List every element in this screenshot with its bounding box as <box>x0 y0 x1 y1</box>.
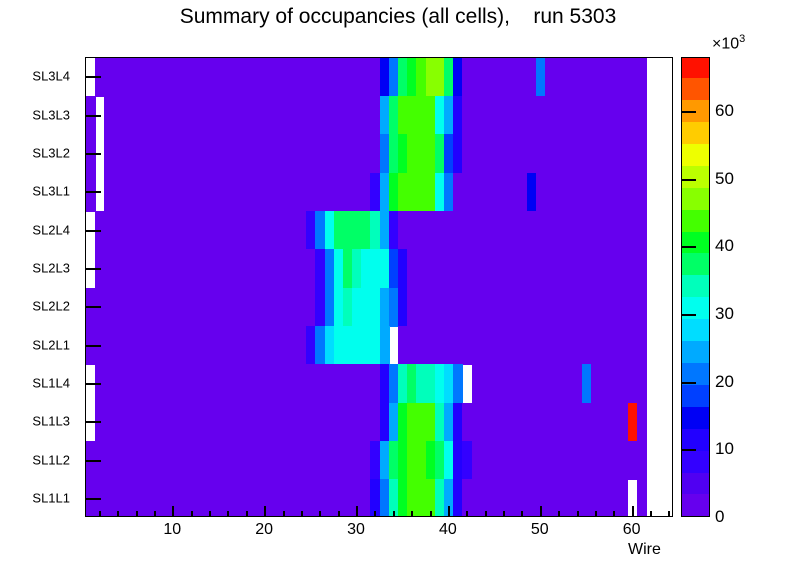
y-axis-tick-label: SL3L1 <box>32 184 70 199</box>
x-axis-minor-tick <box>301 511 303 517</box>
x-axis-title: Wire <box>628 541 661 559</box>
x-axis-minor-tick <box>319 511 321 517</box>
heatmap-cell <box>637 403 647 442</box>
x-axis-minor-tick <box>503 511 505 517</box>
x-axis-minor-tick <box>430 511 432 517</box>
x-axis-major-tick <box>448 506 450 517</box>
x-axis-minor-tick <box>136 511 138 517</box>
heatmap-cell-grid <box>86 58 672 516</box>
heatmap-cell <box>453 364 463 403</box>
heatmap-cell <box>619 479 629 517</box>
x-axis-minor-tick <box>466 511 468 517</box>
colorbar-tick-mark <box>681 382 696 384</box>
colorbar-tick-label: 50 <box>715 169 734 189</box>
heatmap-cell <box>637 441 647 480</box>
x-axis-tick-label: 20 <box>255 521 273 539</box>
heatmap-cell <box>380 326 390 365</box>
x-axis-minor-tick <box>595 511 597 517</box>
y-axis-tick-mark <box>85 345 101 347</box>
x-axis-tick-label: 30 <box>347 521 365 539</box>
colorbar-tick-label: 10 <box>715 439 734 459</box>
heatmap-cell <box>637 364 647 403</box>
heatmap-cell <box>637 134 647 173</box>
y-axis-tick-mark <box>85 306 101 308</box>
x-axis-minor-tick <box>154 511 156 517</box>
x-axis-major-tick <box>172 506 174 517</box>
colorbar-tick-mark <box>681 179 696 181</box>
y-axis-tick-mark <box>85 460 101 462</box>
x-axis-minor-tick <box>338 511 340 517</box>
y-axis-tick-label: SL3L4 <box>32 69 70 84</box>
page-title: Summary of occupancies (all cells), run … <box>0 5 796 29</box>
colorbar-tick-label: 30 <box>715 304 734 324</box>
x-axis-minor-tick <box>485 511 487 517</box>
y-axis-tick-mark <box>85 383 101 385</box>
x-axis-major-tick <box>264 506 266 517</box>
root-canvas: Summary of occupancies (all cells), run … <box>0 0 796 572</box>
colorbar-tick-mark <box>681 111 696 113</box>
x-axis-minor-tick <box>521 511 523 517</box>
y-axis-tick-label: SL1L2 <box>32 452 70 467</box>
y-axis-tick-label: SL1L1 <box>32 490 70 505</box>
y-axis-labels: SL3L4SL3L3SL3L2SL3L1SL2L4SL2L3SL2L2SL2L1… <box>0 57 80 517</box>
y-axis-tick-mark <box>85 268 101 270</box>
y-axis-tick-mark <box>85 191 101 193</box>
x-axis-tick-label: 60 <box>623 521 641 539</box>
x-axis-tick-label: 50 <box>531 521 549 539</box>
colorbar-tick-mark <box>681 246 696 248</box>
x-axis-minor-tick <box>283 511 285 517</box>
x-axis-minor-tick <box>613 511 615 517</box>
heatmap-cell <box>637 326 647 365</box>
x-axis-major-tick <box>632 506 634 517</box>
y-axis-tick-mark <box>85 498 101 500</box>
y-axis-tick-mark <box>85 115 101 117</box>
colorbar-exponent-power: 3 <box>739 33 745 45</box>
y-axis-tick-label: SL2L2 <box>32 299 70 314</box>
x-axis-major-tick <box>540 506 542 517</box>
x-axis-minor-tick <box>227 511 229 517</box>
y-axis-tick-label: SL3L3 <box>32 107 70 122</box>
x-axis-minor-tick <box>117 511 119 517</box>
x-axis-minor-tick <box>558 511 560 517</box>
y-axis-tick-mark <box>85 421 101 423</box>
colorbar-tick-label: 20 <box>715 372 734 392</box>
colorbar-tick-label: 40 <box>715 236 734 256</box>
colorbar-tick-label: 0 <box>715 507 724 527</box>
heatmap-cell <box>637 288 647 327</box>
y-axis-tick-label: SL1L3 <box>32 414 70 429</box>
colorbar-tick-label: 60 <box>715 101 734 121</box>
heatmap-cell <box>637 96 647 135</box>
y-axis-tick-label: SL3L2 <box>32 145 70 160</box>
x-axis-tick-label: 40 <box>439 521 457 539</box>
heatmap-cell <box>637 58 647 97</box>
heatmap-cell <box>637 479 647 517</box>
y-axis-tick-label: SL2L3 <box>32 260 70 275</box>
y-axis-tick-mark <box>85 76 101 78</box>
colorbar-ticks: 0102030405060 <box>681 57 796 517</box>
heatmap-cell <box>637 211 647 250</box>
x-axis-minor-tick <box>209 511 211 517</box>
x-axis-minor-tick <box>99 511 101 517</box>
x-axis-minor-tick <box>374 511 376 517</box>
y-axis-tick-label: SL1L4 <box>32 375 70 390</box>
y-axis-tick-mark <box>85 153 101 155</box>
x-axis-minor-tick <box>668 511 670 517</box>
x-axis-minor-tick <box>191 511 193 517</box>
y-axis-tick-label: SL2L4 <box>32 222 70 237</box>
x-axis-minor-tick <box>246 511 248 517</box>
x-axis-minor-tick <box>411 511 413 517</box>
heatmap-cell <box>637 173 647 212</box>
colorbar-tick-mark <box>681 314 696 316</box>
heatmap-plot-area[interactable] <box>85 57 673 517</box>
x-axis-minor-tick <box>393 511 395 517</box>
heatmap-cell <box>637 249 647 288</box>
colorbar-exponent: ×103 <box>712 33 745 53</box>
x-axis-minor-tick <box>650 511 652 517</box>
colorbar-tick-mark <box>681 449 696 451</box>
y-axis-tick-label: SL2L1 <box>32 337 70 352</box>
x-axis-minor-tick <box>577 511 579 517</box>
x-axis-tick-label: 10 <box>163 521 181 539</box>
x-axis-major-tick <box>356 506 358 517</box>
y-axis-tick-mark <box>85 230 101 232</box>
